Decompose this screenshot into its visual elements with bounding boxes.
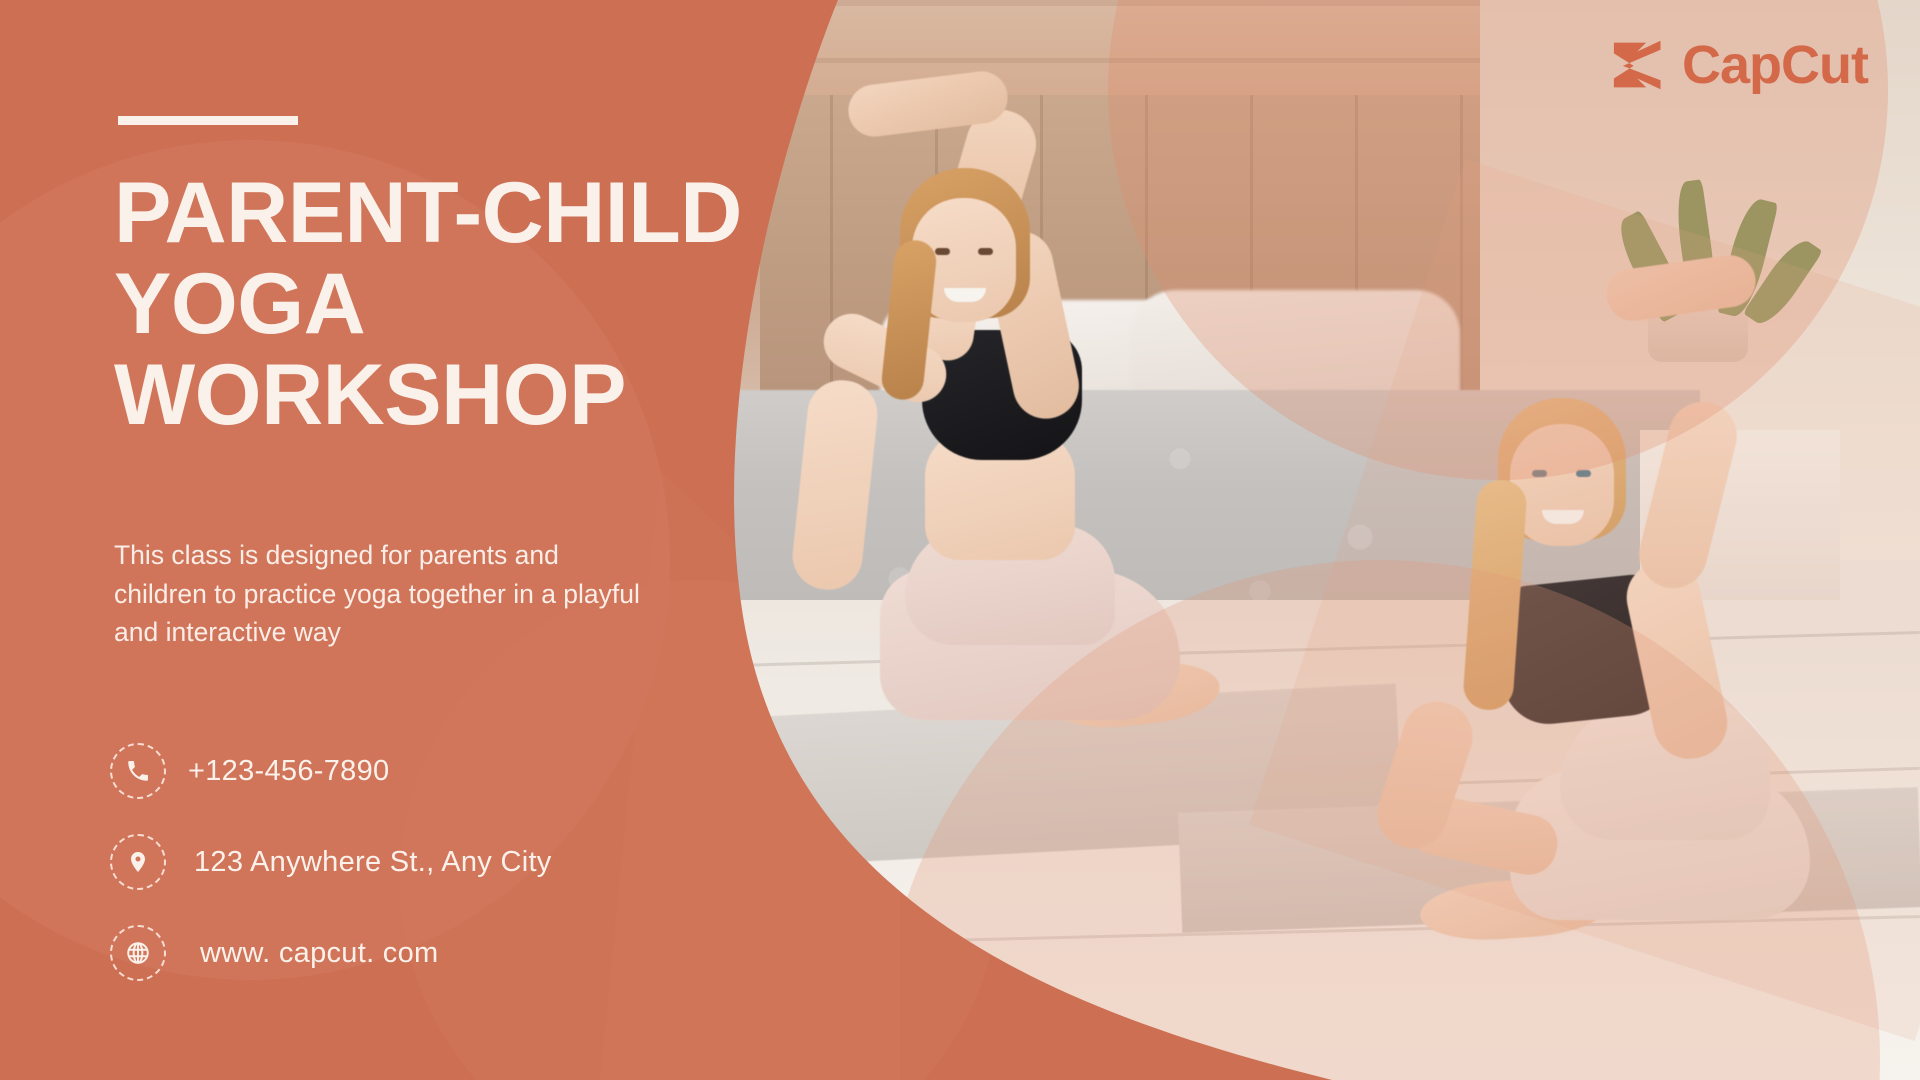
phone-icon [110,743,166,799]
subtitle-description: This class is designed for parents and c… [114,536,834,652]
capcut-logo-icon [1610,39,1668,91]
contact-address-value: 123 Anywhere St., Any City [194,846,552,879]
accent-rule [118,116,298,125]
contact-phone-value: +123-456-7890 [188,755,389,788]
poster-canvas: PARENT-CHILD YOGA WORKSHOP This class is… [0,0,1920,1080]
contact-row-website[interactable]: www. capcut. com [110,922,810,984]
location-pin-icon [110,834,166,890]
contact-website-value: www. capcut. com [200,937,439,970]
contact-row-phone[interactable]: +123-456-7890 [110,740,810,802]
contact-list: +123-456-7890 123 Anywhere St., Any City [110,740,810,1013]
poster-content: PARENT-CHILD YOGA WORKSHOP This class is… [0,0,860,1080]
globe-icon [110,925,166,981]
capcut-brand[interactable]: CapCut [1610,38,1868,92]
contact-row-address[interactable]: 123 Anywhere St., Any City [110,831,810,893]
page-title: PARENT-CHILD YOGA WORKSHOP [114,168,854,441]
capcut-wordmark: CapCut [1682,38,1868,92]
